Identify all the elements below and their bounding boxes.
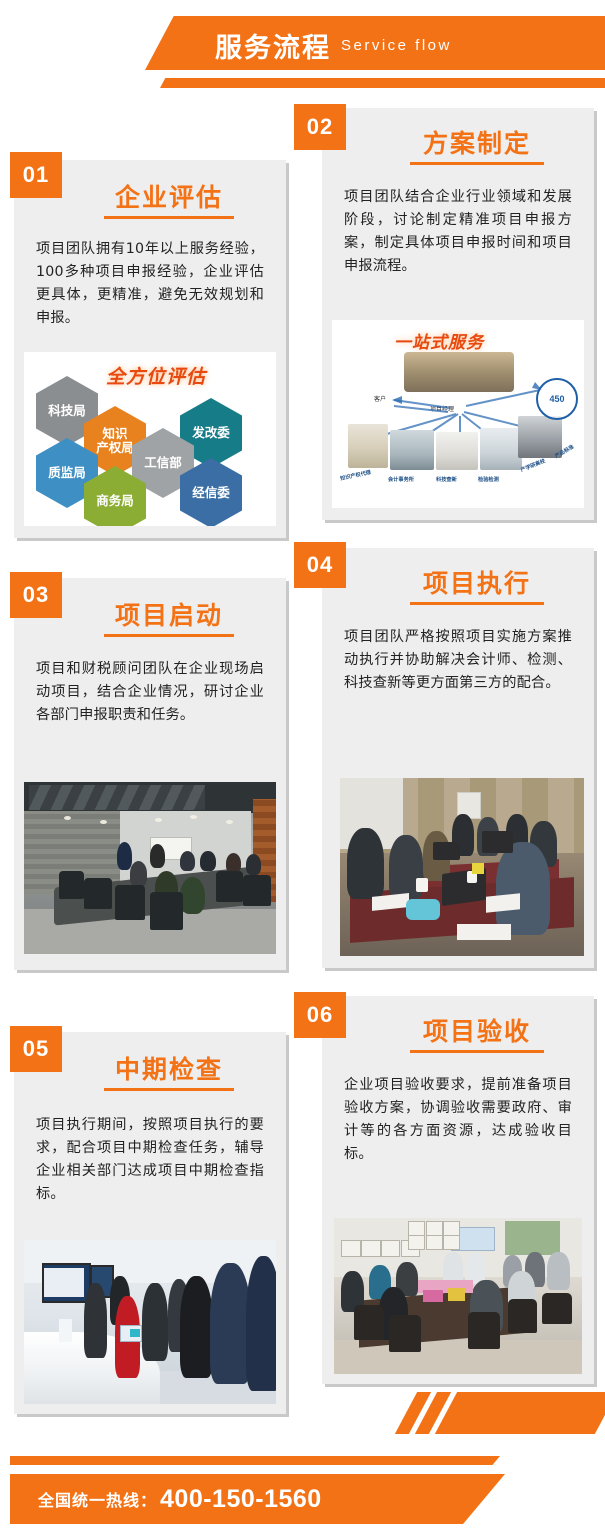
header-title-group: 服务流程 Service flow: [215, 20, 452, 70]
card-06-badge: 06: [294, 992, 346, 1038]
one-stop-node-photo-3: [436, 432, 478, 470]
hex-diagram-title: 全方位评估: [106, 362, 206, 389]
card-02-badge: 02: [294, 104, 346, 150]
photo-scene-meeting-room: [24, 782, 276, 954]
card-01: 企业评估 项目团队拥有10年以上服务经验，100多种项目申报经验，企业评估更具体…: [14, 160, 286, 538]
card-06: 项目验收 企业项目验收要求，提前准备项目验收方案，协调验收需要政府、审计等的各方…: [322, 996, 594, 1384]
card-02-body: 项目团队结合企业行业领域和发展阶段，讨论制定精准项目申报方案，制定具体项目申报时…: [344, 186, 572, 278]
header-banner: 服务流程 Service flow: [0, 0, 605, 110]
photo-scene-working-session: [340, 778, 584, 956]
hex-node-label: 科技局: [48, 404, 86, 418]
hex-node-label: 经信委: [192, 486, 230, 500]
card-05: 中期检查 项目执行期间，按照项目执行的要求，配合项目中期检查任务，辅导企业相关部…: [14, 1032, 286, 1414]
one-stop-node-photo-1: [348, 424, 388, 468]
header-band-thin-extension: [300, 78, 605, 88]
card-06-body: 企业项目验收要求，提前准备项目验收方案，协调验收需要政府、审计等的各方面资源，达…: [344, 1074, 572, 1166]
card-01-body: 项目团队拥有10年以上服务经验，100多种项目申报经验，企业评估更具体，更精准，…: [36, 238, 264, 330]
one-stop-node-photo-2: [390, 430, 434, 470]
infographic-page: 服务流程 Service flow 企业评估 项目团队拥有10年以上服务经验，1…: [0, 0, 605, 1538]
card-05-badge: 05: [10, 1026, 62, 1072]
card-02-title-rule: [410, 162, 544, 165]
hex-node-label: 发改委: [192, 426, 230, 440]
card-04-title: 项目执行: [377, 564, 577, 600]
card-04-photo: [340, 778, 584, 956]
footer-banner: 全国统一热线： 400-150-1560: [0, 1418, 605, 1538]
footer-band-thin: [10, 1456, 450, 1465]
card-03-body: 项目和财税顾问团队在企业现场启动项目，结合企业情况，研讨企业各部门申报职责和任务…: [36, 658, 264, 727]
card-03-photo: [24, 782, 276, 954]
one-stop-node-photo-4: [480, 428, 522, 470]
hex-node-label: 知识 产权局: [96, 427, 134, 455]
hotline-label: 全国统一热线：: [38, 1487, 157, 1511]
one-stop-diagram: 一站式服务 客户 项目经理: [332, 320, 584, 508]
card-03-title: 项目启动: [69, 596, 269, 632]
photo-scene-acceptance-meeting: [334, 1218, 582, 1374]
one-stop-node-label-4: 检验检测: [478, 476, 499, 483]
one-stop-seal-icon: 450: [536, 378, 578, 420]
hex-node-label: 工信部: [144, 456, 182, 470]
card-01-title: 企业评估: [69, 178, 269, 214]
footer-hotline-group: 全国统一热线： 400-150-1560: [38, 1474, 322, 1524]
hex-node-label: 商务局: [96, 494, 134, 508]
page-subtitle: Service flow: [341, 37, 452, 54]
card-01-title-rule: [104, 216, 234, 219]
card-04-body: 项目团队严格按照项目实施方案推动执行并协助解决会计师、检测、科技查新等更方面第三…: [344, 626, 572, 695]
card-05-body: 项目执行期间，按照项目执行的要求，配合项目中期检查任务，辅导企业相关部门达成项目…: [36, 1114, 264, 1206]
card-03-title-rule: [104, 634, 234, 637]
card-05-title-rule: [104, 1088, 234, 1091]
card-04-title-rule: [410, 602, 544, 605]
card-04-badge: 04: [294, 542, 346, 588]
hex-node-label: 质监局: [48, 466, 86, 480]
card-05-title: 中期检查: [69, 1050, 269, 1086]
card-06-photo: [334, 1218, 582, 1374]
footer-band-thin-skew: [432, 1456, 500, 1465]
card-06-title: 项目验收: [377, 1012, 577, 1048]
card-01-badge: 01: [10, 152, 62, 198]
card-02: 方案制定 项目团队结合企业行业领域和发展阶段，讨论制定精准项目申报方案，制定具体…: [322, 108, 594, 520]
hex-diagram: 全方位评估 科技局 知识 产权局 发改委 质监局 工信部 商务局 经信委: [24, 352, 276, 526]
card-03: 项目启动 项目和财税顾问团队在企业现场启动项目，结合企业情况，研讨企业各部门申报…: [14, 578, 286, 970]
page-title: 服务流程: [215, 26, 331, 65]
one-stop-node-label-3: 科技查新: [436, 476, 457, 483]
card-04: 项目执行 项目团队严格按照项目实施方案推动执行并协助解决会计师、检测、科技查新等…: [322, 548, 594, 968]
hotline-number: 400-150-1560: [160, 1485, 322, 1514]
card-02-title: 方案制定: [377, 124, 577, 160]
card-03-badge: 03: [10, 572, 62, 618]
card-05-photo: [24, 1240, 276, 1404]
card-06-title-rule: [410, 1050, 544, 1053]
one-stop-node-label-2: 会计事务所: [388, 476, 414, 483]
photo-scene-showroom-visit: [24, 1240, 276, 1404]
